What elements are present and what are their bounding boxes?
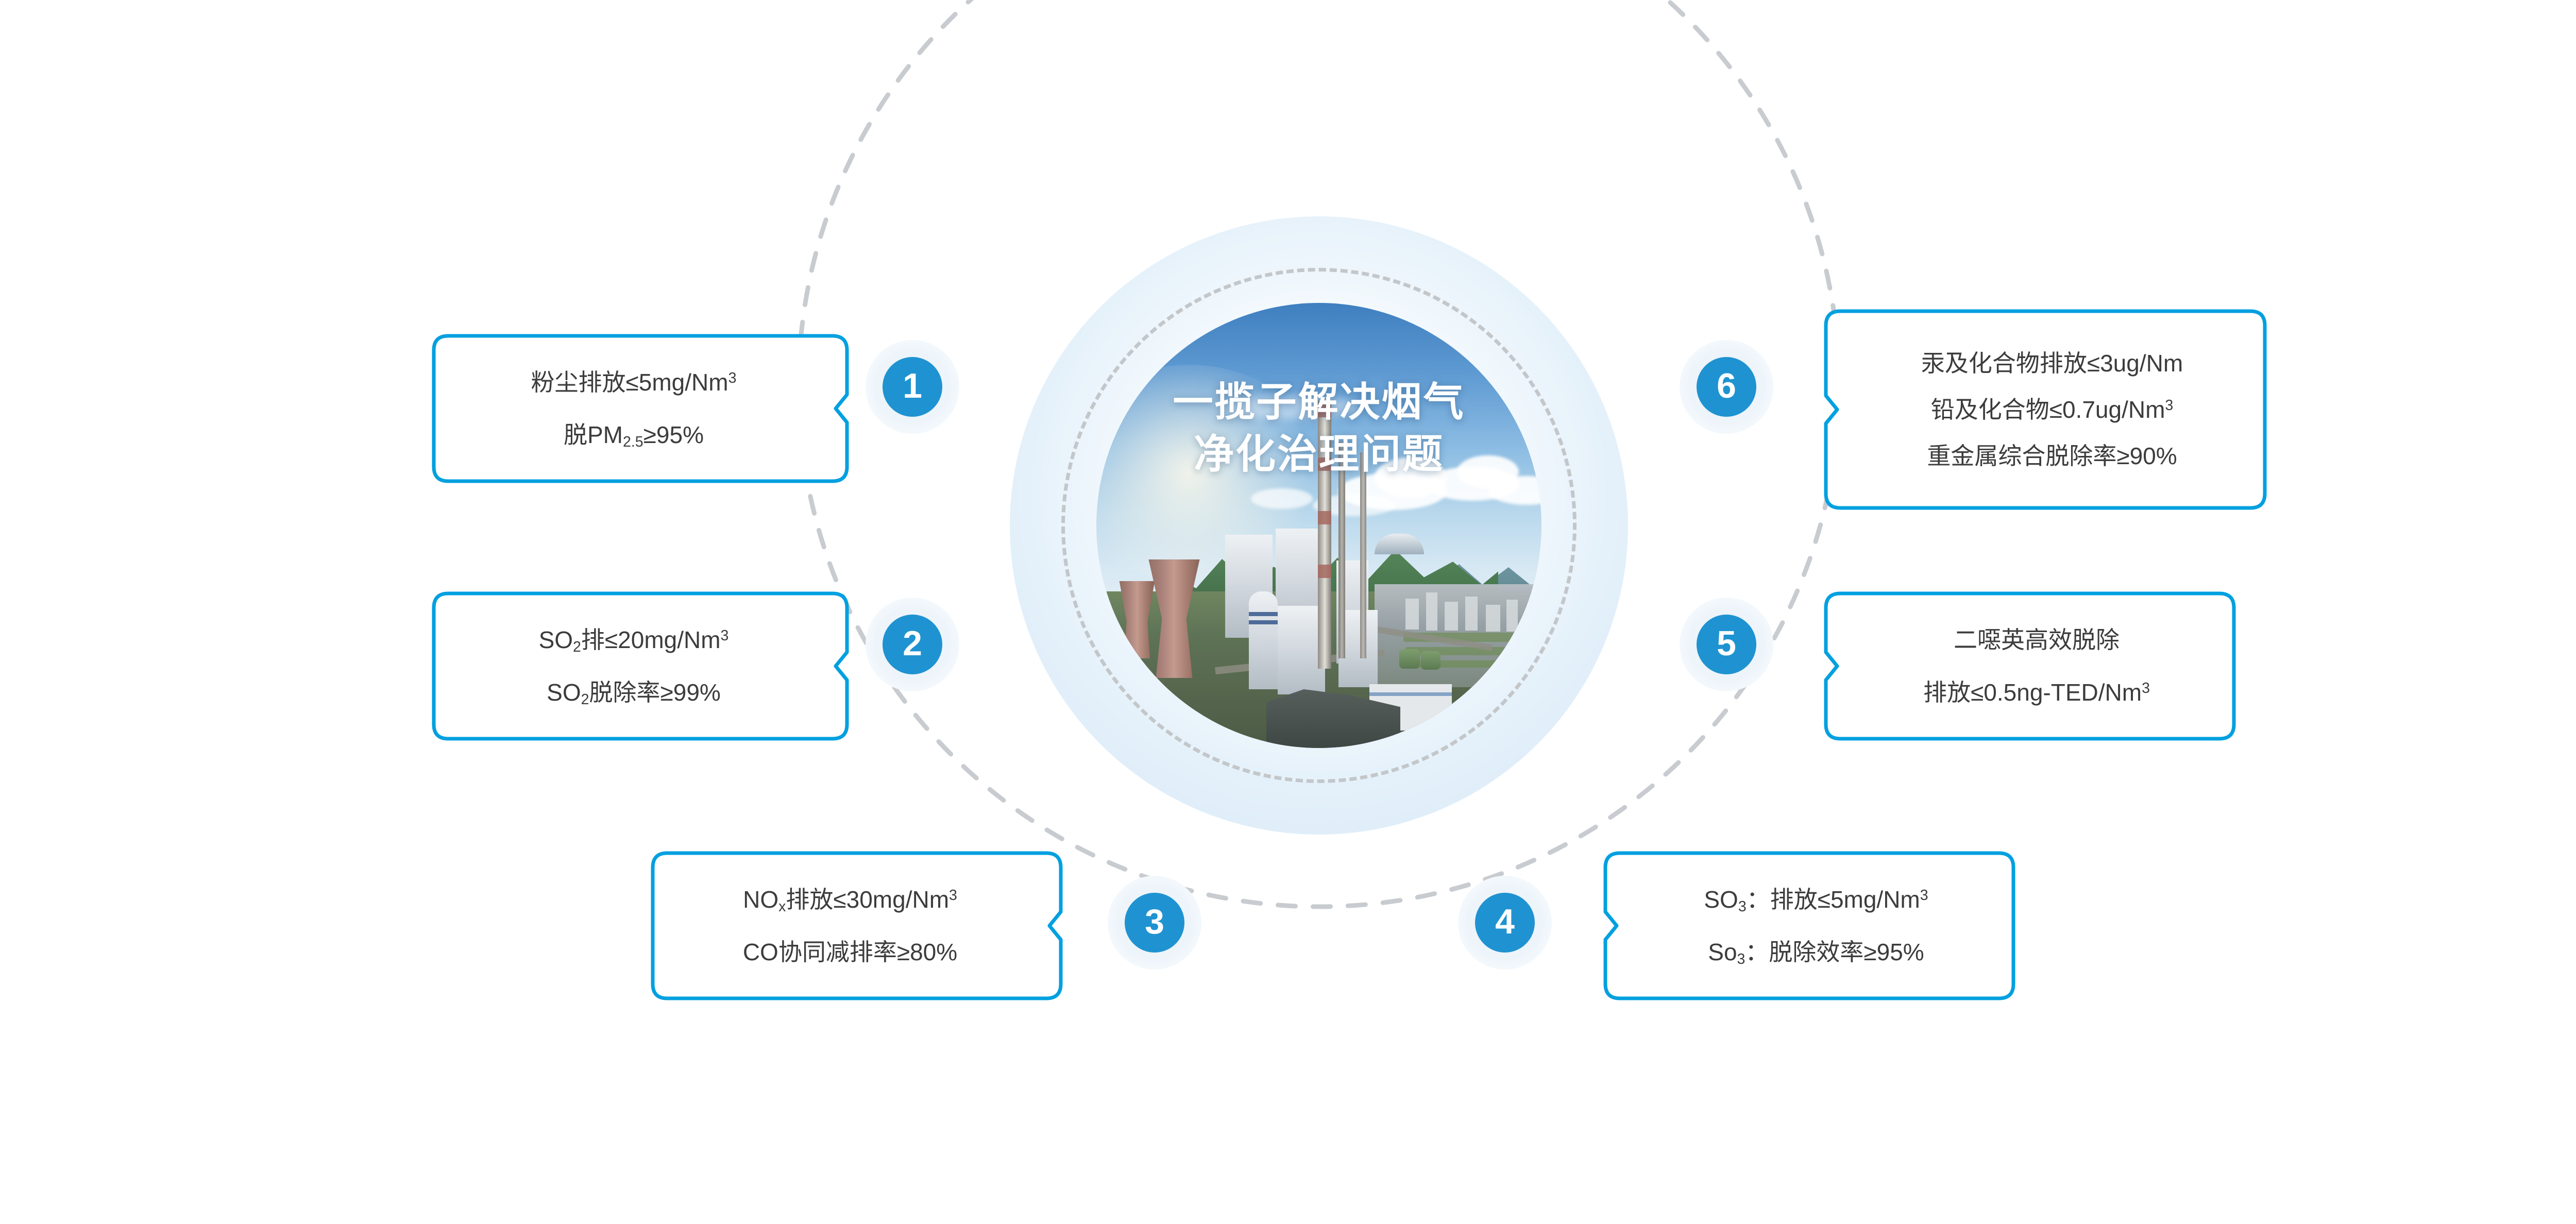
- box-1-line-2: 脱PM2.5≥95%: [432, 423, 849, 447]
- center-graphic: 一揽子解决烟气 净化治理问题: [1010, 216, 1628, 835]
- box-2-line-1: SO2排≤20mg/Nm3: [432, 628, 849, 652]
- center-title-line-1: 一揽子解决烟气: [1010, 376, 1628, 428]
- info-box-2-lines: SO2排≤20mg/Nm3SO2脱除率≥99%: [432, 628, 849, 704]
- info-box-6-lines: 汞及化合物排放≤3ug/Nm铅及化合物≤0.7ug/Nm3重金属综合脱除率≥90…: [1824, 351, 2267, 468]
- box-5-line-2: 排放≤0.5ng-TED/Nm3: [1824, 681, 2236, 704]
- info-box-5-lines: 二噁英高效脱除排放≤0.5ng-TED/Nm3: [1824, 628, 2236, 704]
- info-box-6[interactable]: 汞及化合物排放≤3ug/Nm铅及化合物≤0.7ug/Nm3重金属综合脱除率≥90…: [1824, 309, 2267, 510]
- info-box-3-lines: NOx排放≤30mg/Nm3CO协同减排率≥80%: [651, 888, 1063, 964]
- center-photo: [1096, 303, 1541, 748]
- step-number-1: 1: [883, 357, 942, 417]
- step-number-5: 5: [1697, 615, 1756, 674]
- box-4-line-2: So3：脱除效率≥95%: [1603, 940, 2015, 964]
- center-title: 一揽子解决烟气 净化治理问题: [1010, 376, 1628, 481]
- box-4-line-1: SO3：排放≤5mg/Nm3: [1603, 888, 2015, 911]
- info-box-3[interactable]: NOx排放≤30mg/Nm3CO协同减排率≥80%: [651, 851, 1063, 1000]
- step-number-6: 6: [1697, 357, 1756, 417]
- info-box-1-lines: 粉尘排放≤5mg/Nm3脱PM2.5≥95%: [432, 370, 849, 447]
- step-bubble-4[interactable]: 4: [1458, 876, 1552, 970]
- box-6-line-1: 汞及化合物排放≤3ug/Nm: [1824, 351, 2267, 375]
- step-number-4: 4: [1475, 893, 1535, 953]
- box-1-line-1: 粉尘排放≤5mg/Nm3: [432, 370, 849, 394]
- info-box-2[interactable]: SO2排≤20mg/Nm3SO2脱除率≥99%: [432, 591, 849, 741]
- info-box-4-lines: SO3：排放≤5mg/Nm3So3：脱除效率≥95%: [1603, 888, 2015, 964]
- step-bubble-5[interactable]: 5: [1680, 598, 1773, 691]
- step-number-2: 2: [883, 615, 942, 674]
- box-5-line-1: 二噁英高效脱除: [1824, 628, 2236, 652]
- info-box-5[interactable]: 二噁英高效脱除排放≤0.5ng-TED/Nm3: [1824, 591, 2236, 741]
- infographic-canvas: 一揽子解决烟气 净化治理问题 1 2 3 4 5 6 粉尘排放≤5mg/Nm3脱…: [0, 0, 2576, 1224]
- box-3-line-1: NOx排放≤30mg/Nm3: [651, 888, 1063, 911]
- box-3-line-2: CO协同减排率≥80%: [651, 940, 1063, 964]
- box-6-line-2: 铅及化合物≤0.7ug/Nm3: [1824, 398, 2267, 421]
- box-2-line-2: SO2脱除率≥99%: [432, 681, 849, 704]
- step-bubble-6[interactable]: 6: [1680, 340, 1773, 434]
- info-box-4[interactable]: SO3：排放≤5mg/Nm3So3：脱除效率≥95%: [1603, 851, 2015, 1000]
- step-bubble-3[interactable]: 3: [1108, 876, 1201, 970]
- info-box-1[interactable]: 粉尘排放≤5mg/Nm3脱PM2.5≥95%: [432, 334, 849, 483]
- center-title-line-2: 净化治理问题: [1010, 428, 1628, 480]
- step-number-3: 3: [1125, 893, 1184, 953]
- step-bubble-1[interactable]: 1: [866, 340, 959, 434]
- step-bubble-2[interactable]: 2: [866, 598, 959, 691]
- box-6-line-3: 重金属综合脱除率≥90%: [1824, 444, 2267, 468]
